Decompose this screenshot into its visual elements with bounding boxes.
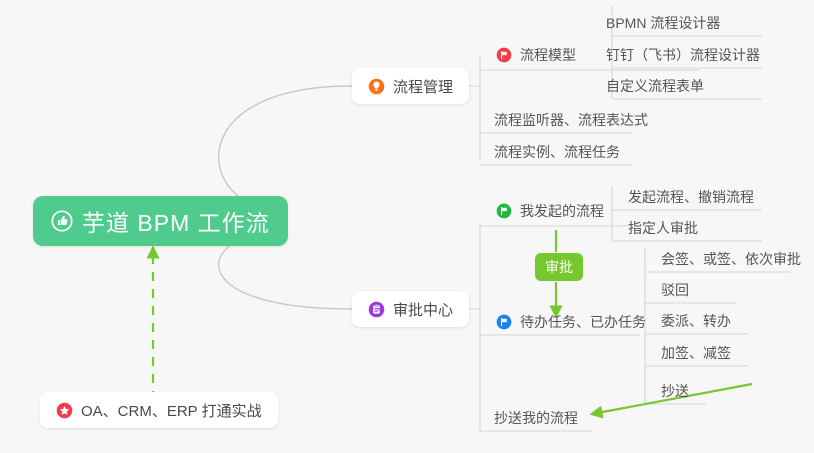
node-process-listener-label: 流程监听器、流程表达式 [494, 110, 648, 130]
branch-approval-center[interactable]: 审批中心 [352, 291, 469, 327]
node-add-remove-sign[interactable]: 加签、减签 [655, 338, 737, 368]
footnote-integration-note[interactable]: OA、CRM、ERP 打通实战 [40, 392, 278, 428]
node-countersign-label: 会签、或签、依次审批 [661, 249, 801, 269]
node-bpmn-designer[interactable]: BPMN 流程设计器 [600, 8, 726, 38]
node-my-started-process[interactable]: 我发起的流程 [490, 196, 610, 226]
flag-icon [496, 314, 512, 330]
approval-badge-label: 审批 [545, 257, 573, 277]
node-reject[interactable]: 驳回 [655, 275, 695, 305]
flag-icon [496, 47, 512, 63]
root-node[interactable]: 芋道 BPM 工作流 [33, 196, 288, 246]
node-todo-done-tasks[interactable]: 待办任务、已办任务 [490, 307, 652, 337]
branch-approval-center-label: 审批中心 [393, 299, 453, 320]
node-delegate-transfer-label: 委派、转办 [661, 311, 731, 331]
node-custom-form[interactable]: 自定义流程表单 [600, 71, 710, 101]
node-process-listener[interactable]: 流程监听器、流程表达式 [488, 105, 654, 135]
mindmap-canvas: 芋道 BPM 工作流 流程管理 流程模型 BPMN 流程设计器 钉钉（飞书）流程 [0, 0, 814, 453]
thumbs-up-icon [51, 210, 73, 232]
node-cc[interactable]: 抄送 [655, 376, 695, 406]
node-launch-cancel-process[interactable]: 发起流程、撤销流程 [622, 182, 760, 212]
node-delegate-transfer[interactable]: 委派、转办 [655, 306, 737, 336]
node-process-model[interactable]: 流程模型 [490, 40, 582, 70]
clipboard-icon [368, 301, 385, 318]
node-add-remove-sign-label: 加签、减签 [661, 343, 731, 363]
node-reject-label: 驳回 [661, 280, 689, 300]
node-countersign[interactable]: 会签、或签、依次审批 [655, 244, 807, 274]
node-assignee-approval[interactable]: 指定人审批 [622, 213, 704, 243]
node-process-instance[interactable]: 流程实例、流程任务 [488, 137, 626, 167]
node-launch-cancel-process-label: 发起流程、撤销流程 [628, 187, 754, 207]
footnote-label: OA、CRM、ERP 打通实战 [81, 400, 262, 421]
node-process-instance-label: 流程实例、流程任务 [494, 142, 620, 162]
link-root-to-process-management [219, 86, 352, 210]
node-todo-done-tasks-label: 待办任务、已办任务 [520, 312, 646, 332]
node-cc-label: 抄送 [661, 381, 689, 401]
node-assignee-approval-label: 指定人审批 [628, 218, 698, 238]
node-custom-form-label: 自定义流程表单 [606, 76, 704, 96]
node-bpmn-designer-label: BPMN 流程设计器 [606, 13, 720, 33]
flag-icon [496, 203, 512, 219]
node-dingtalk-designer[interactable]: 钉钉（飞书）流程设计器 [600, 40, 766, 70]
branch-process-management[interactable]: 流程管理 [352, 68, 469, 104]
node-my-started-process-label: 我发起的流程 [520, 201, 604, 221]
branch-process-management-label: 流程管理 [393, 76, 453, 97]
lightbulb-icon [368, 78, 385, 95]
node-cc-to-me-process-label: 抄送我的流程 [494, 408, 578, 428]
node-process-model-label: 流程模型 [520, 45, 576, 65]
star-icon [56, 402, 73, 419]
node-cc-to-me-process[interactable]: 抄送我的流程 [488, 403, 584, 433]
node-dingtalk-designer-label: 钉钉（飞书）流程设计器 [606, 45, 760, 65]
root-label: 芋道 BPM 工作流 [82, 204, 270, 238]
approval-badge[interactable]: 审批 [535, 253, 583, 281]
